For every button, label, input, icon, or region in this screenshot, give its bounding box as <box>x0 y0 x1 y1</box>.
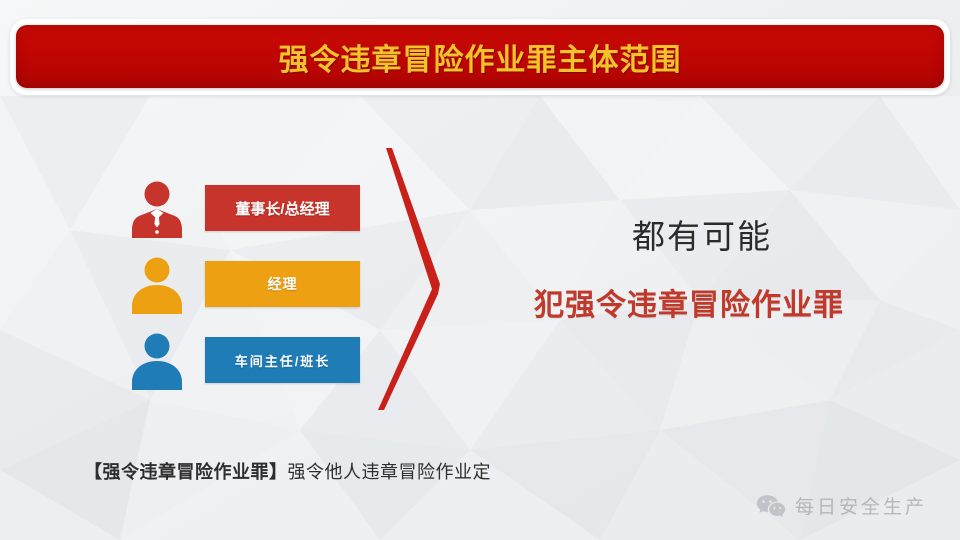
page-title: 强令违章冒险作业罪主体范围 <box>279 35 682 79</box>
conclusion-line-2: 犯强令违章冒险作业罪 <box>534 280 844 324</box>
role-label: 董事长/总经理 <box>235 198 329 219</box>
caption: 【强令违章冒险作业罪】强令他人违章冒险作业定 <box>84 458 491 484</box>
role-row: 车间主任/班长 <box>130 330 370 406</box>
title-banner: 强令违章冒险作业罪主体范围 <box>16 25 944 88</box>
role-list: 董事长/总经理 经理 车间主任/班长 <box>130 178 370 406</box>
role-badge: 车间主任/班长 <box>205 337 360 383</box>
role-row: 经理 <box>130 254 370 330</box>
role-label: 经理 <box>268 274 298 294</box>
watermark: 每日安全生产 <box>756 492 927 519</box>
slide-canvas: 强令违章冒险作业罪主体范围 董事长/总经理 经理 <box>0 0 960 540</box>
person-icon <box>130 332 184 390</box>
wechat-icon <box>756 494 786 518</box>
role-badge: 董事长/总经理 <box>205 185 360 231</box>
conclusion-line-1: 都有可能 <box>632 210 772 258</box>
chevron-right-icon <box>368 148 458 410</box>
person-suit-tie-icon <box>130 180 184 238</box>
role-label: 车间主任/班长 <box>235 351 331 370</box>
role-badge: 经理 <box>205 261 360 307</box>
caption-term: 【强令违章冒险作业罪】 <box>84 462 288 482</box>
role-row: 董事长/总经理 <box>130 178 370 254</box>
watermark-text: 每日安全生产 <box>795 492 927 519</box>
person-icon <box>130 256 184 314</box>
caption-body: 强令他人违章冒险作业定 <box>288 462 492 482</box>
